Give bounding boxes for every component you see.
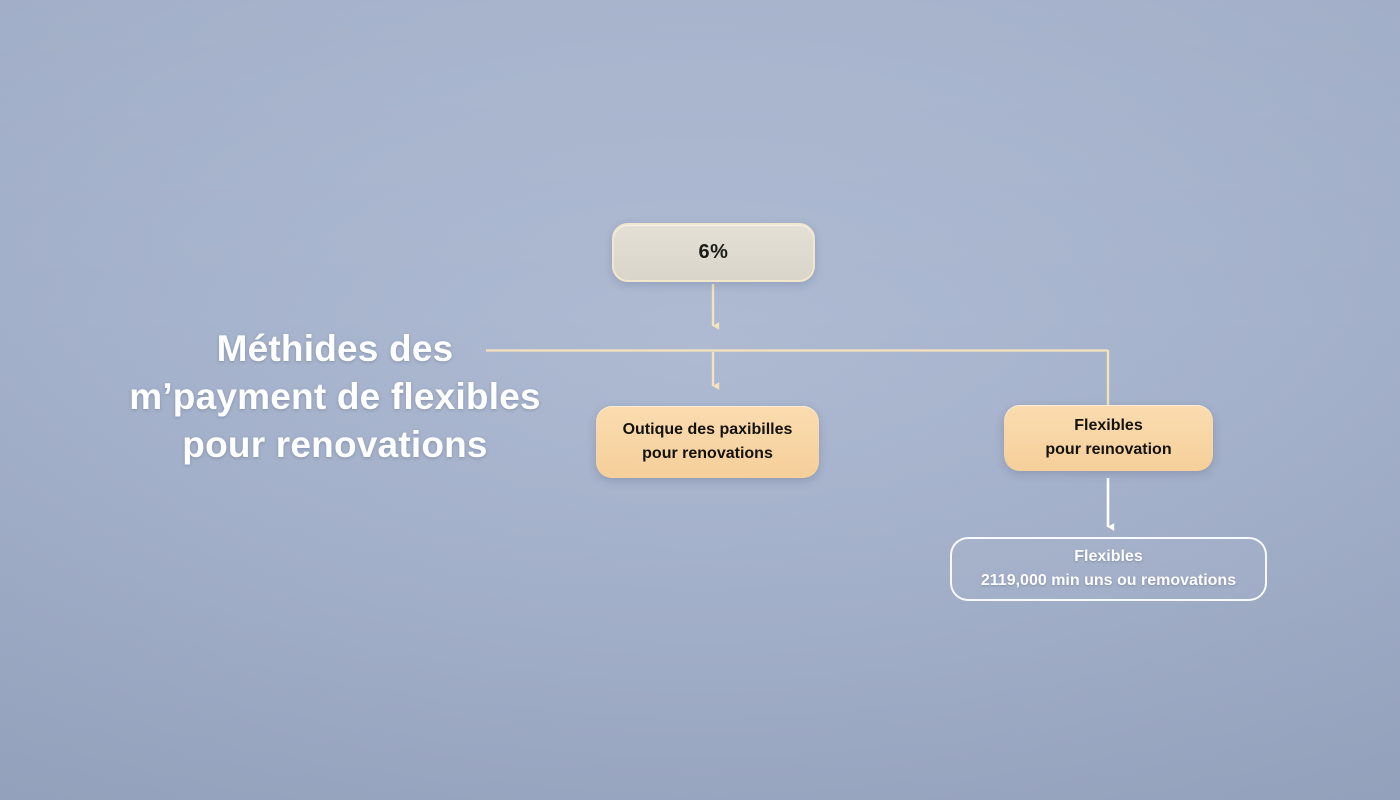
- node-leaf-bottom-line-2: 2119,000 min uns ou removations: [981, 569, 1236, 593]
- node-leaf-bottom-line-1: Flexibles: [1074, 545, 1142, 569]
- diagram-title-line-3: pour renovations: [90, 421, 580, 469]
- node-branch-left-line-1: Outique des paxibilles: [623, 418, 793, 442]
- node-branch-right-line-2: pour reınovation: [1045, 438, 1171, 462]
- node-branch-right[interactable]: Flexibles pour reınovation: [1004, 405, 1213, 471]
- node-root-label: 6%: [699, 241, 729, 264]
- diagram-canvas: Méthides des m’payment de flexibles pour…: [0, 0, 1400, 800]
- node-branch-left[interactable]: Outique des paxibilles pour renovations: [596, 406, 819, 478]
- node-branch-right-line-1: Flexibles: [1074, 414, 1142, 438]
- node-root[interactable]: 6%: [612, 223, 815, 282]
- diagram-title: Méthides des m’payment de flexibles pour…: [90, 325, 580, 469]
- node-leaf-bottom[interactable]: Flexibles 2119,000 min uns ou removation…: [950, 537, 1267, 601]
- node-branch-left-line-2: pour renovations: [642, 442, 773, 466]
- diagram-title-line-1: Méthides des: [90, 325, 580, 373]
- diagram-title-line-2: m’payment de flexibles: [90, 373, 580, 421]
